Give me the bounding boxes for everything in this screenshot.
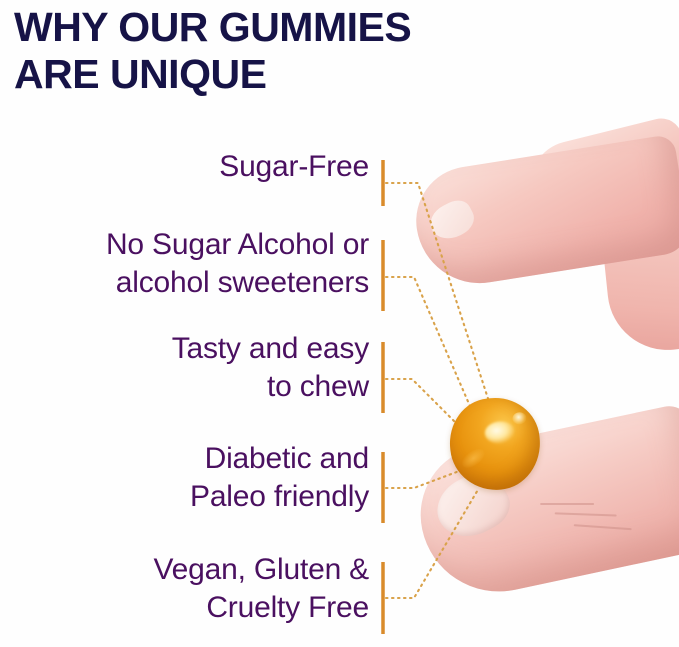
feature-list: Sugar-Free No Sugar Alcohol or alcohol s… (0, 140, 369, 647)
gummy-specular-dot (512, 411, 527, 424)
feature-label-sugar-free: Sugar-Free (0, 148, 369, 186)
page-title: WHY OUR GUMMIES ARE UNIQUE (14, 4, 654, 98)
thumb-crease (574, 524, 632, 530)
gummy-rim-light (459, 445, 488, 472)
feature-label-diabetic-paleo: Diabetic and Paleo friendly (0, 440, 369, 516)
feature-label-no-sugar-alcohol: No Sugar Alcohol or alcohol sweeteners (0, 226, 369, 302)
thumb-crease (555, 512, 617, 516)
feature-label-vegan-gluten: Vegan, Gluten & Cruelty Free (0, 551, 369, 627)
thumb (408, 402, 679, 606)
thumb-crease (540, 503, 594, 505)
product-photo (410, 130, 679, 647)
promo-graphic: WHY OUR GUMMIES ARE UNIQUE Sugar-Free No… (0, 0, 679, 647)
index-fingernail (425, 195, 480, 245)
feature-label-tasty-easy-chew: Tasty and easy to chew (0, 330, 369, 406)
gummy-highlight (484, 420, 516, 445)
